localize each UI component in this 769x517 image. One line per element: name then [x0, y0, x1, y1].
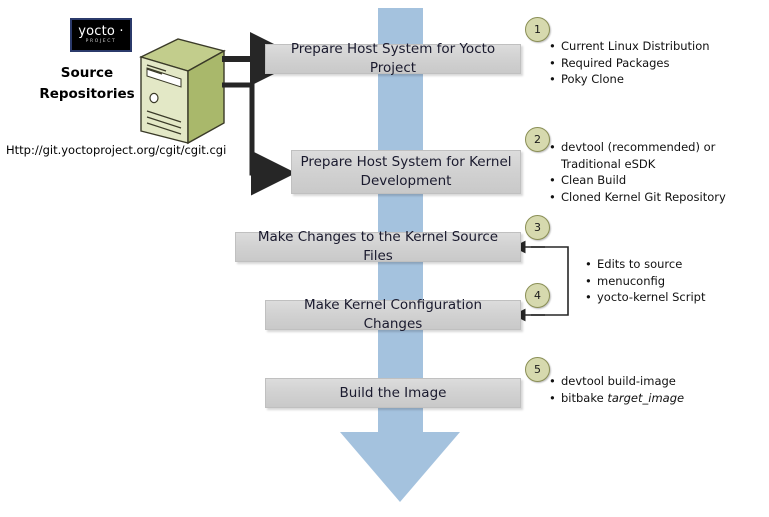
bullet-list-step-1: Current Linux Distribution Required Pack…: [549, 38, 759, 88]
command-text: bitbake: [561, 391, 607, 405]
step-number-2: 2: [525, 127, 550, 152]
list-item: Poky Clone: [549, 71, 759, 88]
step-number-1: 1: [525, 17, 550, 42]
command-argument: target_image: [607, 391, 684, 405]
source-label-line2: Repositories: [28, 84, 146, 105]
list-item: Current Linux Distribution: [549, 38, 759, 55]
logo-subtitle: PROJECT: [86, 40, 117, 45]
source-repositories-label: Source Repositories: [28, 63, 146, 105]
logo-wordmark: yocto ·: [78, 25, 124, 38]
list-item: yocto-kernel Script: [585, 289, 765, 306]
list-item: Required Packages: [549, 55, 759, 72]
process-box-step-2[interactable]: Prepare Host System for Kernel Developme…: [291, 150, 521, 194]
process-box-step-3[interactable]: Make Changes to the Kernel Source Files: [235, 232, 521, 262]
diagram-canvas: yocto · PROJECT Source Repositories Http…: [0, 0, 769, 517]
step-number-4: 4: [525, 283, 550, 308]
server-tower-icon: [136, 35, 228, 147]
process-box-step-5[interactable]: Build the Image: [265, 378, 521, 408]
process-box-step-1[interactable]: Prepare Host System for Yocto Project: [265, 44, 521, 74]
bullet-list-steps-3-4: Edits to source menuconfig yocto-kernel …: [585, 256, 765, 306]
list-item: devtool build-image: [549, 373, 759, 390]
source-label-line1: Source: [28, 63, 146, 84]
flow-arrowhead-icon: [340, 432, 460, 502]
command-text: devtool build-image: [561, 374, 676, 388]
list-item: bitbake target_image: [549, 390, 759, 407]
bullet-list-step-2: devtool (recommended) or Traditional eSD…: [549, 139, 761, 205]
step-number-5: 5: [525, 357, 550, 382]
process-box-step-4[interactable]: Make Kernel Configuration Changes: [265, 300, 521, 330]
list-item: menuconfig: [585, 273, 765, 290]
step-number-3: 3: [525, 215, 550, 240]
yocto-project-logo: yocto · PROJECT: [70, 18, 132, 52]
list-item: Clean Build: [549, 172, 761, 189]
bullet-list-step-5: devtool build-image bitbake target_image: [549, 373, 759, 406]
list-item: devtool (recommended) or Traditional eSD…: [549, 139, 761, 172]
list-item: Cloned Kernel Git Repository: [549, 189, 761, 206]
list-item: Edits to source: [585, 256, 765, 273]
